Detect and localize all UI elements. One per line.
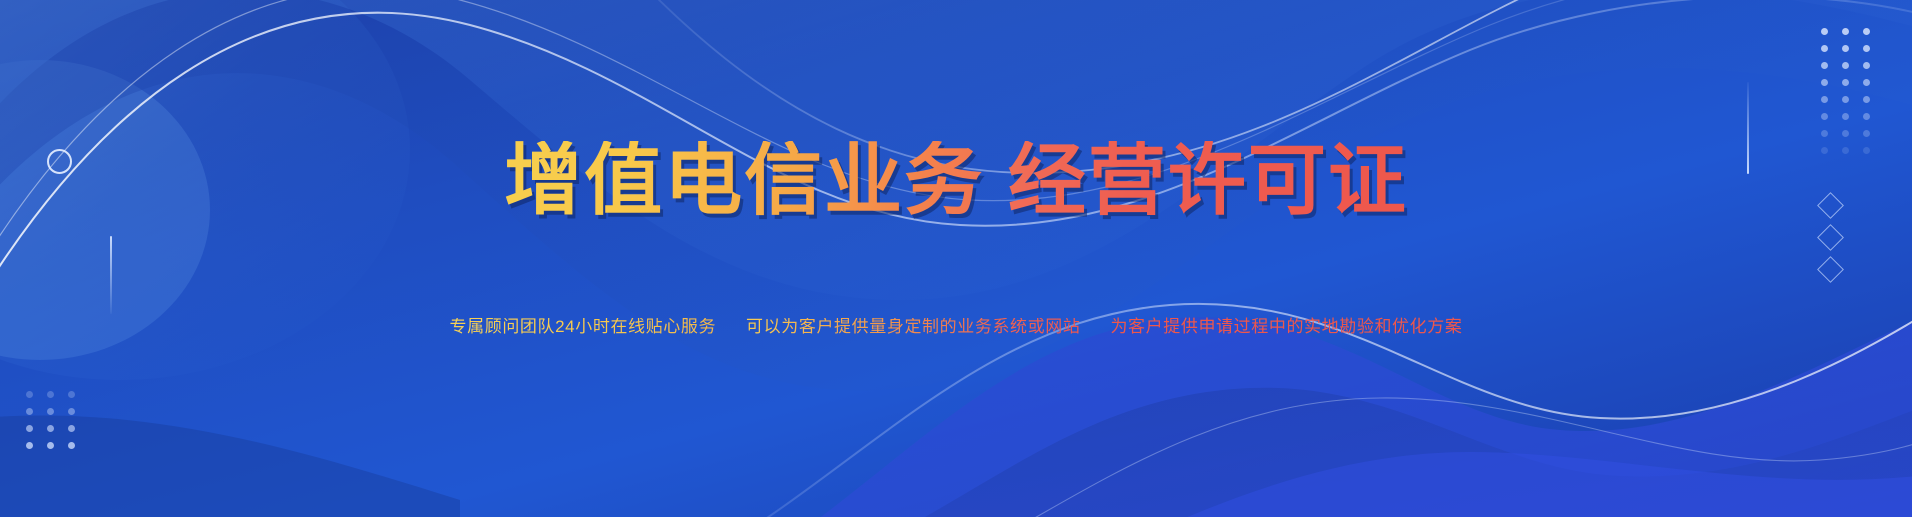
subtitle-segment-2: 可以为客户提供量身定制的业务系统或网站 [746,318,1080,335]
promo-banner: 增值电信业务 经营许可证 专属顾问团队24小时在线贴心服务 可以为客户提供量身定… [0,0,1912,517]
banner-headline: 增值电信业务 经营许可证 [504,141,1408,219]
banner-content: 增值电信业务 经营许可证 专属顾问团队24小时在线贴心服务 可以为客户提供量身定… [0,0,1912,517]
subtitle-segment-3: 为客户提供申请过程中的实地勘验和优化方案 [1110,318,1462,335]
banner-subtitle-row: 专属顾问团队24小时在线贴心服务 可以为客户提供量身定制的业务系统或网站 为客户… [450,318,1463,335]
subtitle-segment-1: 专属顾问团队24小时在线贴心服务 [450,318,717,335]
